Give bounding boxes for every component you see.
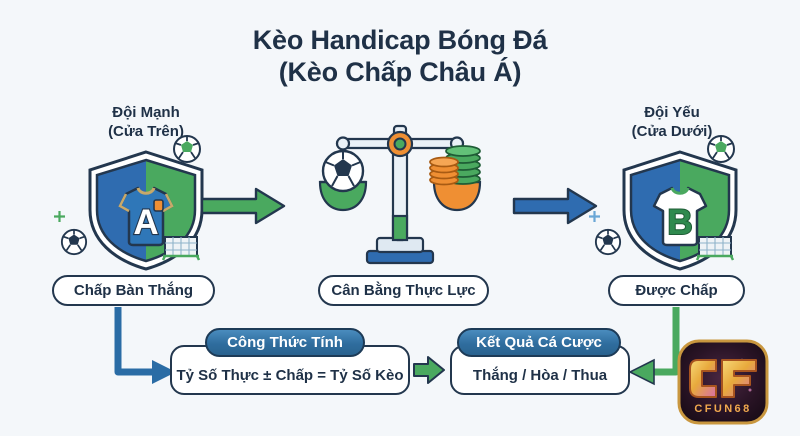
badge-formula-label: Công Thức Tính [227,334,343,351]
pill-can-bang-thuc-luc[interactable]: Cân Bằng Thực Lực [318,275,489,306]
cfun68-logo[interactable]: CFUN68 [676,338,770,426]
connector-right-arrowhead [630,360,654,384]
diagram-canvas: Kèo Handicap Bóng Đá (Kèo Chấp Châu Á) Đ… [0,0,800,436]
badge-ket-qua-ca-cuoc[interactable]: Kết Quả Cá Cược [457,328,621,357]
pill-duoc-chap[interactable]: Được Chấp [608,275,745,306]
result-value: Thắng / Hòa / Thua [473,367,607,384]
formula-value: Tỷ Số Thực ± Chấp = Tỷ Số Kèo [176,367,403,384]
badge-result-label: Kết Quả Cá Cược [476,334,602,351]
pill-chap-ban-thang[interactable]: Chấp Bàn Thắng [52,275,215,306]
logo-wordmark: CFUN68 [694,403,751,415]
pill-left-label: Chấp Bàn Thắng [74,282,193,299]
pill-center-label: Cân Bằng Thực Lực [331,282,475,299]
pill-right-label: Được Chấp [635,282,717,299]
formula-to-result-arrow-icon [414,357,444,383]
badge-cong-thuc-tinh[interactable]: Công Thức Tính [205,328,365,357]
